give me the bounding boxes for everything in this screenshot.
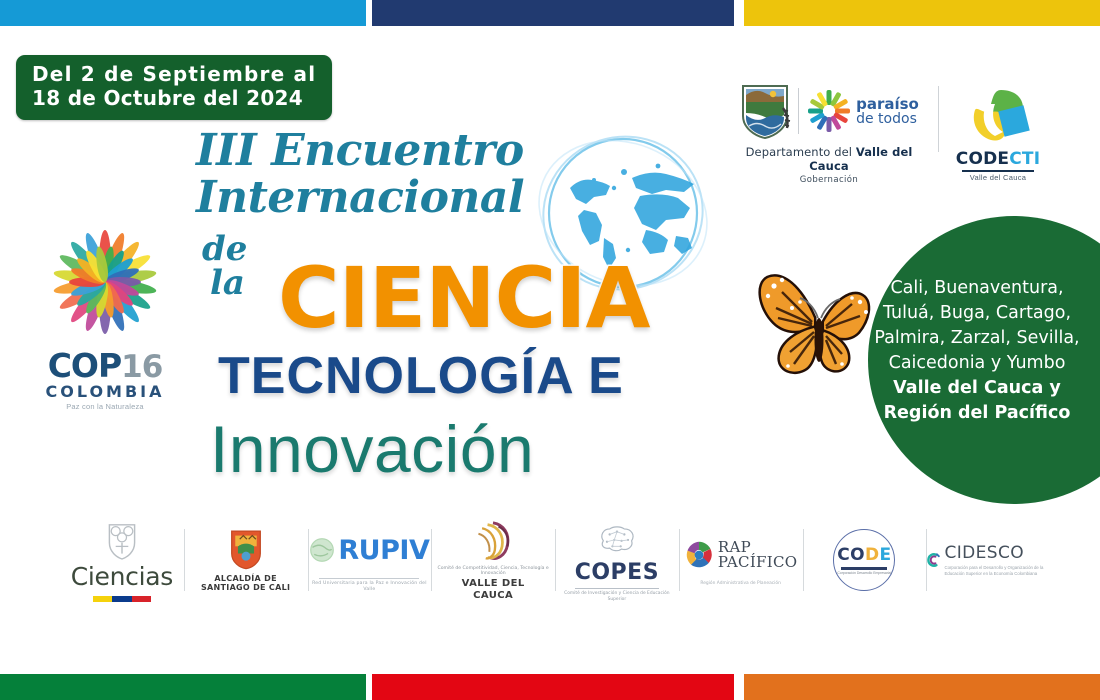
top-color-bar — [0, 0, 1100, 26]
cop16-logo: COP16 COLOMBIA Paz con la Naturaleza — [30, 222, 180, 411]
partner-logo-strip: Ciencias ALCALDÍA DE SANTIAGO DE CALI — [60, 512, 1050, 608]
valle-del-cauca-subtitle: Comité de Competitividad, Ciencia, Tecno… — [431, 566, 555, 576]
monarch-butterfly-icon — [748, 256, 888, 386]
partner-rap-pacifico: RAP PACÍFICO Región Administrativa de Pl… — [679, 515, 803, 605]
bottom-bar-segment-orange — [744, 674, 1100, 700]
valle-del-cauca-shield-icon — [739, 82, 791, 140]
partner-rupiv: RUPIV Red Universitaria para la Paz e In… — [308, 515, 432, 605]
cop16-country-text: COLOMBIA — [30, 382, 180, 401]
paraiso-wordmark: paraíso de todos — [856, 97, 919, 126]
code-label: CODE — [837, 545, 891, 565]
gobernacion-subcaption: Gobernación — [726, 175, 932, 185]
rap-pacifico-logo-row: RAP PACÍFICO — [684, 533, 797, 577]
rupiv-rule — [319, 578, 419, 579]
title-tecnologia: TECNOLOGÍA E — [218, 350, 624, 402]
vdc-line-2: CAUCA — [462, 590, 525, 602]
colombia-flag-icon — [93, 596, 151, 602]
logo-divider — [798, 88, 799, 134]
paraiso-burst-icon — [806, 85, 852, 137]
locations-region-1: Valle del Cauca y — [874, 376, 1080, 401]
codecti-word-a: CODE — [956, 149, 1009, 169]
codecti-rule — [962, 170, 1034, 172]
vdc-line-1: VALLE DEL — [462, 578, 525, 590]
code-label-a: CO — [837, 545, 865, 565]
cop16-petal-burst-icon — [45, 222, 165, 342]
cop16-wordmark: COP16 — [30, 346, 180, 385]
partner-minciencias: Ciencias — [60, 515, 184, 605]
locations-line-3: Palmira, Zarzal, Sevilla, — [874, 326, 1080, 351]
copes-subtitle: Comité de Investigación y Ciencia de Edu… — [555, 591, 679, 602]
title-line-1: III Encuentro — [196, 128, 716, 174]
bottom-bar-segment-red — [372, 674, 734, 700]
partner-valle-del-cauca: Comité de Competitividad, Ciencia, Tecno… — [431, 515, 555, 605]
codecti-logo: CODECTI Valle del Cauca — [950, 86, 1046, 182]
partner-code: CODE Corporación Desarrollo Empresarial — [803, 515, 927, 605]
title-innovacion: Innovación — [210, 416, 534, 482]
rupiv-subtitle: Red Universitaria para la Paz e Innovaci… — [308, 581, 432, 591]
title-de-text: de — [202, 232, 247, 266]
copes-rule — [575, 588, 659, 589]
rap-line-2: PACÍFICO — [718, 555, 797, 570]
date-badge: Del 2 de Septiembre al 18 de Octubre del… — [16, 55, 332, 120]
cop16-number-text: 16 — [121, 349, 162, 385]
codecti-word-b: CTI — [1009, 149, 1040, 169]
copes-label: COPES — [575, 561, 659, 586]
locations-line-1: Cali, Buenaventura, — [874, 276, 1080, 301]
minciencias-label: Ciencias — [71, 563, 173, 591]
code-label-c: E — [879, 545, 891, 565]
code-subtitle: Corporación Desarrollo Empresarial — [837, 571, 891, 575]
codecti-wordmark: CODECTI — [950, 149, 1046, 169]
top-bar-segment-yellow — [744, 0, 1100, 26]
partner-copes: COPES Comité de Investigación y Ciencia … — [555, 515, 679, 605]
top-bar-segment-light-blue — [0, 0, 366, 26]
valle-del-cauca-label: VALLE DEL CAUCA — [462, 578, 525, 601]
event-title-block: III Encuentro Internacional de la CIENCI… — [196, 128, 716, 222]
rupiv-logo-row: RUPIV — [309, 528, 429, 572]
title-la-text: la — [210, 266, 247, 300]
cidesco-logo-row: CIDESCO Corporación para el Desarrollo y… — [926, 538, 1050, 582]
cidesco-swirl-icon — [926, 545, 940, 575]
alcaldia-line-2: SANTIAGO DE CALI — [201, 584, 290, 593]
title-line-1-text: III Encuentro — [196, 125, 524, 176]
gobernacion-logo-row: paraíso de todos — [726, 80, 932, 142]
cop16-cop-text: COP — [48, 346, 121, 385]
rap-pacifico-subtitle: Región Administrativa de Planeación — [700, 582, 781, 587]
rap-pacifico-label: RAP PACÍFICO — [718, 540, 797, 571]
partner-cidesco: CIDESCO Corporación para el Desarrollo y… — [926, 515, 1050, 605]
paraiso-line-1: paraíso — [856, 97, 919, 112]
locations-line-2: Tuluá, Buga, Cartago, — [874, 301, 1080, 326]
locations-region-2: Región del Pacífico — [874, 401, 1080, 426]
date-badge-line2: 18 de Octubre del 2024 — [32, 87, 316, 111]
title-de-la: de la — [202, 232, 247, 300]
cop16-tagline-text: Paz con la Naturaleza — [30, 402, 180, 411]
locations-text: Cali, Buenaventura, Tuluá, Buga, Cartago… — [874, 276, 1080, 426]
locations-line-4: Caicedonia y Yumbo — [874, 351, 1080, 376]
alcaldia-cali-label: ALCALDÍA DE SANTIAGO DE CALI — [201, 575, 290, 593]
poster-canvas: Del 2 de Septiembre al 18 de Octubre del… — [0, 0, 1100, 700]
copes-brain-icon — [596, 517, 638, 561]
cidesco-subtitle: Corporación para el Desarrollo y Organiz… — [944, 565, 1050, 578]
bottom-bar-segment-green — [0, 674, 366, 700]
rupiv-label: RUPIV — [338, 535, 429, 566]
codecti-mark-icon — [961, 86, 1035, 148]
rap-pacifico-wave-icon — [684, 540, 714, 570]
code-circle-icon: CODE Corporación Desarrollo Empresarial — [833, 529, 895, 591]
gobernacion-caption: Departamento del Valle del Cauca — [726, 145, 932, 173]
gobernacion-caption-prefix: Departamento del — [746, 145, 856, 159]
paraiso-de-todos-logo: paraíso de todos — [806, 85, 919, 137]
cidesco-label: CIDESCO — [944, 543, 1050, 563]
title-ciencia: CIENCIA — [278, 256, 650, 340]
bar-gap — [734, 674, 744, 700]
minciencias-crest-icon — [104, 519, 140, 563]
bottom-color-bar — [0, 674, 1100, 700]
title-line-2: Internacional — [196, 174, 716, 222]
paraiso-line-2: de todos — [856, 112, 919, 126]
logo-divider — [938, 86, 939, 152]
cidesco-text-block: CIDESCO Corporación para el Desarrollo y… — [944, 543, 1050, 578]
rupiv-globe-icon — [309, 537, 335, 563]
codecti-subtitle: Valle del Cauca — [950, 173, 1046, 182]
code-label-b: D — [865, 545, 880, 565]
date-badge-line1: Del 2 de Septiembre al — [32, 63, 316, 87]
bar-gap — [734, 0, 744, 26]
partner-alcaldia-cali: ALCALDÍA DE SANTIAGO DE CALI — [184, 515, 308, 605]
code-rule — [841, 567, 887, 570]
gobernacion-valle-logo: paraíso de todos Departamento del Valle … — [726, 80, 932, 185]
valle-del-cauca-ribbon-icon — [473, 519, 513, 563]
top-bar-segment-navy — [372, 0, 734, 26]
alcaldia-cali-shield-icon — [229, 527, 263, 571]
